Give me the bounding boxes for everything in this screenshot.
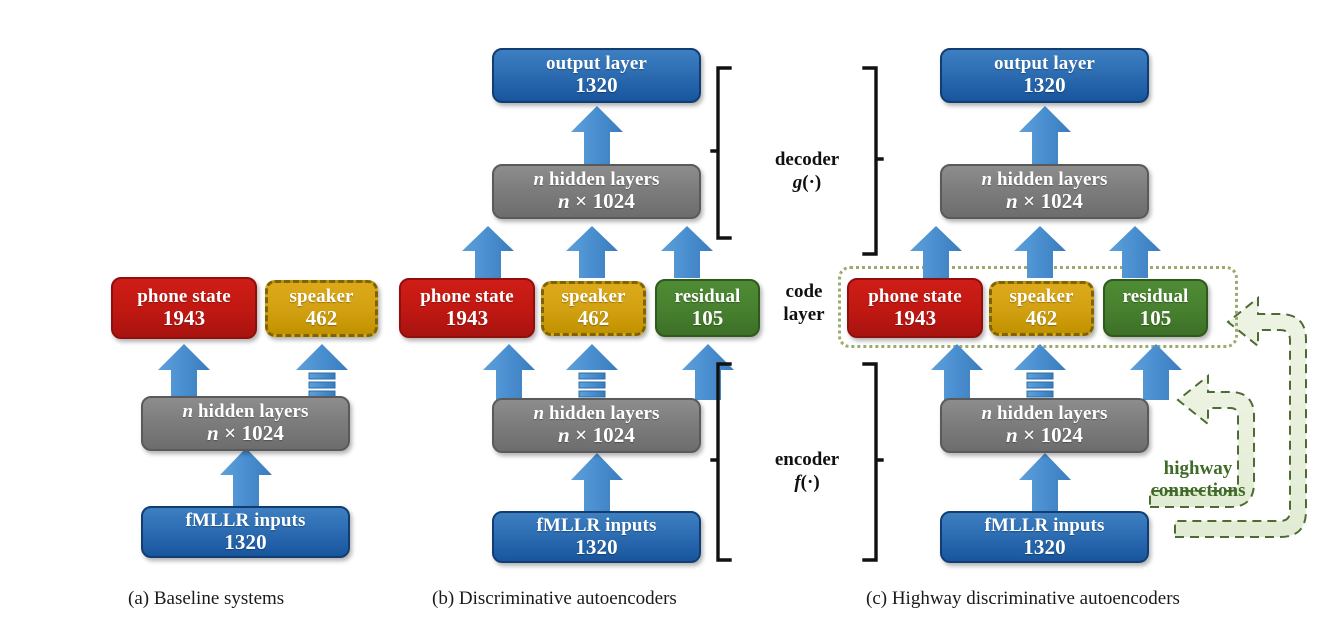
panel-a-hidden-block[interactable]: n hidden layers n × 1024 [141, 396, 350, 451]
decoder-label: decoder g(·) [752, 148, 862, 194]
block-line2: 462 [1026, 307, 1058, 329]
block-line2: 1320 [575, 536, 617, 558]
encoder-bracket [710, 362, 732, 562]
panel-b-arrow-phone-state-to-decoder [462, 226, 514, 278]
panel-c-output-block[interactable]: output layer 1320 [940, 48, 1149, 103]
panel-c-encoder-hidden-block[interactable]: n hidden layers n × 1024 [940, 398, 1149, 453]
block-line2: n × 1024 [558, 190, 635, 212]
decoder-bracket [710, 66, 732, 240]
block-line1: n hidden layers [533, 404, 659, 424]
encoder-bracket-panel-c [862, 362, 884, 562]
block-line2: 1320 [224, 531, 266, 553]
block-line2: n × 1024 [1006, 424, 1083, 446]
decoder-bracket-panel-c [862, 66, 884, 256]
block-line2: 1320 [1023, 536, 1065, 558]
block-line1: output layer [546, 54, 647, 74]
panel-b-arrow-decoder-to-output [571, 106, 623, 164]
panel-a-caption: (a) Baseline systems [128, 588, 284, 610]
panel-a-arrow-input-to-hidden [220, 448, 272, 510]
panel-b-encoder-hidden-block[interactable]: n hidden layers n × 1024 [492, 398, 701, 453]
panel-a-speaker-block[interactable]: speaker 462 [265, 280, 378, 337]
encoder-label-line1: encoder [752, 448, 862, 471]
panel-c-caption: (c) Highway discriminative autoencoders [866, 588, 1180, 610]
block-line2: n × 1024 [207, 422, 284, 444]
block-line1: phone state [868, 287, 961, 307]
panel-c-phone-state-block[interactable]: phone state 1943 [847, 278, 983, 338]
block-line1: phone state [420, 287, 513, 307]
panel-b-output-block[interactable]: output layer 1320 [492, 48, 701, 103]
block-line2: n × 1024 [558, 424, 635, 446]
panel-c-decoder-hidden-block[interactable]: n hidden layers n × 1024 [940, 164, 1149, 219]
block-line1: phone state [137, 287, 230, 307]
block-line1: speaker [561, 287, 625, 307]
highway-connections-label: highway connections [1128, 458, 1268, 503]
panel-b-input-block[interactable]: fMLLR inputs 1320 [492, 511, 701, 563]
panel-a-arrow-hidden-to-speaker-striped [296, 344, 348, 400]
panel-b-residual-block[interactable]: residual 105 [655, 279, 760, 337]
panel-b-phone-state-block[interactable]: phone state 1943 [399, 278, 535, 338]
block-line2: 1943 [163, 307, 205, 329]
block-line2: 1320 [575, 74, 617, 96]
panel-b-arrow-speaker-to-decoder [566, 226, 618, 278]
panel-a-phone-state-block[interactable]: phone state 1943 [111, 277, 257, 339]
panel-c-arrow-phone-state-to-decoder [910, 226, 962, 278]
encoder-label-line2: f(·) [752, 471, 862, 494]
panel-c-arrow-residual-to-decoder [1109, 226, 1161, 278]
block-line2: n × 1024 [1006, 190, 1083, 212]
panel-b-arrow-encoder-to-speaker-striped [566, 344, 618, 400]
block-line1: fMLLR inputs [985, 516, 1105, 536]
panel-c-arrow-encoder-to-residual [1130, 344, 1182, 400]
block-line2: 105 [1140, 307, 1172, 329]
panel-c-arrow-input-to-encoder [1019, 453, 1071, 515]
panel-c-arrow-encoder-to-phone-state [931, 344, 983, 400]
highway-label-line1: highway [1128, 458, 1268, 480]
figure-canvas: fMLLR inputs 1320 n hidden layers n × 10… [0, 0, 1334, 626]
block-line1: residual [675, 287, 741, 307]
panel-b-decoder-hidden-block[interactable]: n hidden layers n × 1024 [492, 164, 701, 219]
panel-a-arrow-hidden-to-phone-state [158, 344, 210, 400]
encoder-label: encoder f(·) [752, 448, 862, 494]
block-line1: speaker [289, 287, 353, 307]
panel-c-input-block[interactable]: fMLLR inputs 1320 [940, 511, 1149, 563]
block-line1: speaker [1009, 287, 1073, 307]
block-line2: 1320 [1023, 74, 1065, 96]
panel-c-arrow-decoder-to-output [1019, 106, 1071, 164]
decoder-label-line2: g(·) [752, 171, 862, 194]
code-layer-label-line2: layer [762, 303, 846, 326]
panel-b-caption: (b) Discriminative autoencoders [432, 588, 677, 610]
block-line1: fMLLR inputs [537, 516, 657, 536]
panel-b-arrow-input-to-encoder [571, 453, 623, 515]
decoder-label-line1: decoder [752, 148, 862, 171]
block-line1: n hidden layers [981, 404, 1107, 424]
code-layer-label: code layer [762, 280, 846, 326]
highway-label-line2: connections [1128, 480, 1268, 502]
block-line2: 1943 [446, 307, 488, 329]
block-line2: 462 [306, 307, 338, 329]
code-layer-label-line1: code [762, 280, 846, 303]
block-line1: n hidden layers [981, 170, 1107, 190]
panel-b-speaker-block[interactable]: speaker 462 [541, 281, 646, 336]
panel-a-input-block[interactable]: fMLLR inputs 1320 [141, 506, 350, 558]
panel-c-residual-block[interactable]: residual 105 [1103, 279, 1208, 337]
block-line1: n hidden layers [182, 402, 308, 422]
block-line1: output layer [994, 54, 1095, 74]
panel-c-arrow-encoder-to-speaker-striped [1014, 344, 1066, 400]
block-line1: fMLLR inputs [186, 511, 306, 531]
block-line2: 462 [578, 307, 610, 329]
block-line2: 105 [692, 307, 724, 329]
block-line2: 1943 [894, 307, 936, 329]
panel-c-speaker-block[interactable]: speaker 462 [989, 281, 1094, 336]
panel-b-arrow-encoder-to-phone-state [483, 344, 535, 400]
panel-c-arrow-speaker-to-decoder [1014, 226, 1066, 278]
block-line1: residual [1123, 287, 1189, 307]
panel-b-arrow-residual-to-decoder [661, 226, 713, 278]
block-line1: n hidden layers [533, 170, 659, 190]
